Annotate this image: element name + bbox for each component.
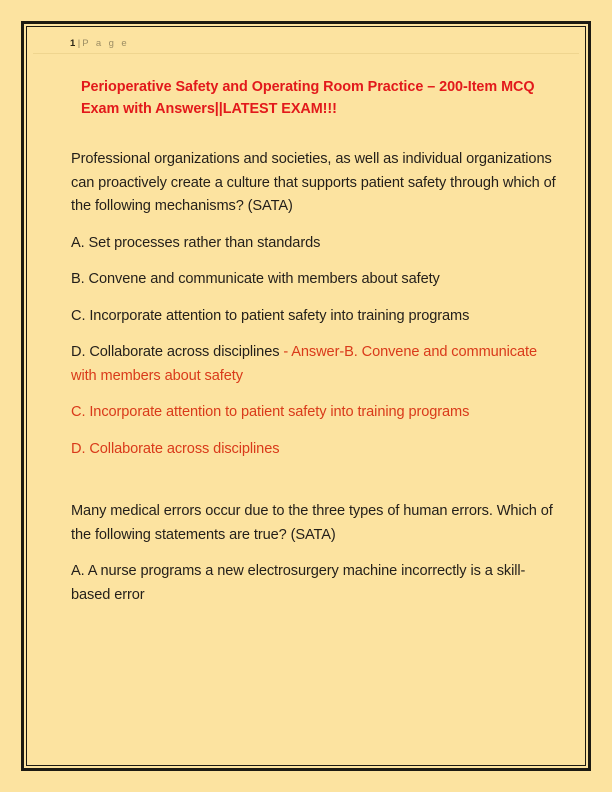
document-title: Perioperative Safety and Operating Room … <box>33 76 579 120</box>
question-1-option-d-text: D. Collaborate across disciplines <box>71 344 283 360</box>
page-content: 1|P a g e Perioperative Safety and Opera… <box>33 31 579 761</box>
page-number: 1 <box>70 38 76 49</box>
paragraph-spacer <box>71 474 559 500</box>
question-2-option-a: A. A nurse programs a new electrosurgery… <box>71 560 559 607</box>
question-1-option-a: A. Set processes rather than standards <box>71 232 559 256</box>
page-label: P a g e <box>82 38 129 49</box>
question-1-option-b: B. Convene and communicate with members … <box>71 268 559 292</box>
question-1-option-d-with-answer: D. Collaborate across disciplines - Answ… <box>71 341 559 388</box>
question-1-answer-line-1: C. Incorporate attention to patient safe… <box>71 401 559 425</box>
document-body: Professional organizations and societies… <box>33 148 579 607</box>
question-2-stem: Many medical errors occur due to the thr… <box>71 500 559 547</box>
running-header: 1|P a g e <box>33 31 579 54</box>
document-page: 1|P a g e Perioperative Safety and Opera… <box>0 0 612 792</box>
question-1-answer-line-2: D. Collaborate across disciplines <box>71 438 559 462</box>
question-1-option-c: C. Incorporate attention to patient safe… <box>71 305 559 329</box>
question-1-stem: Professional organizations and societies… <box>71 148 559 219</box>
